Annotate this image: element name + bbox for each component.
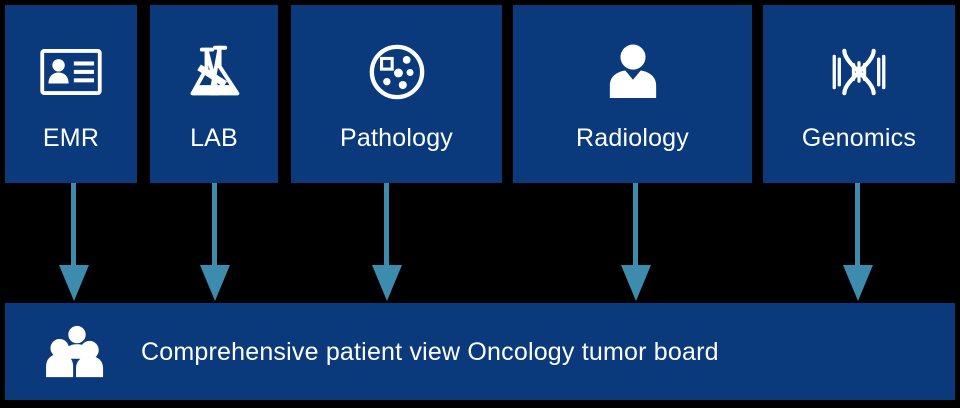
source-card-emr[interactable]: EMR (5, 5, 137, 183)
source-card-label: Genomics (802, 123, 916, 153)
summary-text: Comprehensive patient view Oncology tumo… (141, 336, 719, 368)
source-card-lab[interactable]: LAB (150, 5, 278, 183)
source-card-label: EMR (43, 123, 99, 153)
source-card-label: Radiology (576, 123, 689, 153)
person-icon (600, 41, 666, 103)
summary-bar[interactable]: Comprehensive patient view Oncology tumo… (5, 303, 955, 400)
id-card-icon (38, 41, 104, 103)
petri-dish-icon (364, 41, 430, 103)
arrow-pathology-to-summary (367, 183, 407, 303)
arrow-radiology-to-summary (616, 183, 656, 303)
source-card-pathology[interactable]: Pathology (291, 5, 502, 183)
arrow-lab-to-summary (195, 183, 235, 303)
arrow-genomics-to-summary (838, 183, 878, 303)
arrow-emr-to-summary (54, 183, 94, 303)
data-sources-to-tumor-board-diagram: EMR LAB (0, 0, 960, 408)
lab-flasks-icon (181, 41, 247, 103)
source-card-genomics[interactable]: Genomics (763, 5, 955, 183)
source-card-radiology[interactable]: Radiology (513, 5, 752, 183)
dna-helix-icon (826, 41, 892, 103)
people-group-icon (45, 323, 109, 381)
source-card-label: Pathology (340, 123, 453, 153)
source-card-label: LAB (190, 123, 238, 153)
